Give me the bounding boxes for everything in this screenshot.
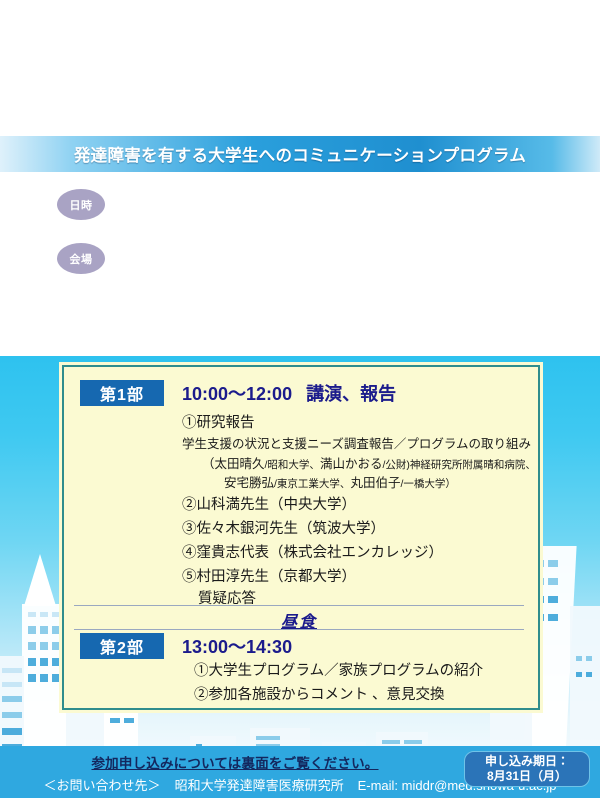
building-window [40, 612, 48, 617]
affil-org-3: /東京工業大学、 [274, 478, 350, 490]
deadline-date: 8月31日（月） [487, 769, 567, 784]
building-spire-left [24, 554, 56, 606]
top-white-panel [0, 0, 600, 356]
part1-item-4: ④窪貴志代表（株式会社エンカレッジ） [182, 541, 443, 562]
building-window [2, 712, 22, 718]
part2-time: 13:00〜14:30 [182, 633, 292, 659]
building-window [40, 658, 48, 666]
building-window [576, 656, 582, 661]
part1-tag: 第1部 [80, 380, 164, 406]
building-window [40, 674, 48, 682]
date-badge-label: 日時 [70, 197, 93, 213]
affil-name-2: 満山かおる [320, 457, 383, 471]
venue-badge-label: 会場 [70, 251, 93, 267]
footer-bar: 参加申し込みについては裏面をご覧ください。 ＜お問い合わせ先＞昭和大学発達障害医… [0, 746, 600, 798]
part2-tag-label: 第2部 [100, 634, 144, 658]
part1-item-5: ⑤村田淳先生（京都大学） [182, 565, 356, 586]
deadline-label: 申し込み期日： [485, 754, 569, 769]
part2-item-2: ②参加各施設からコメント 、意見交換 [194, 683, 445, 704]
date-badge: 日時 [57, 189, 105, 220]
part1-tag-label: 第1部 [100, 381, 144, 405]
poster-root: AMED 障害者対策総合研究開発事業 発達障害を有する大学生（中退者、引きこもり… [0, 0, 600, 798]
part1-label: 講演、報告 [306, 384, 396, 404]
program-box: 第1部 10:00〜12:00講演、報告 ①研究報告 学生支援の状況と支援ニーズ… [62, 365, 540, 710]
building-window [2, 682, 22, 687]
building-window [2, 696, 22, 702]
building-window [586, 656, 592, 661]
building-window [124, 718, 134, 723]
building-window [28, 674, 36, 682]
building-window [548, 578, 558, 585]
building-window [576, 672, 582, 677]
building-window [28, 642, 36, 650]
contact-label: ＜お問い合わせ先＞ [44, 778, 161, 793]
building-window [256, 736, 280, 740]
affil-org-4: /一橋大学） [400, 478, 455, 490]
building-window [52, 612, 60, 617]
part2-time-range: 13:00〜14:30 [182, 637, 292, 657]
building-window [52, 658, 60, 666]
building-window [2, 668, 22, 673]
building-window [28, 658, 36, 666]
building-window [404, 740, 422, 744]
lunch-divider-bottom [74, 629, 524, 630]
lunch-divider-top [74, 605, 524, 606]
affil-org-1: /昭和大学、 [265, 459, 320, 471]
program-banner: 発達障害を有する大学生へのコミュニケーションプログラム [0, 136, 600, 172]
building-window [40, 626, 48, 634]
building-window [548, 560, 558, 567]
deadline-badge: 申し込み期日： 8月31日（月） [464, 751, 590, 787]
building-window [52, 674, 60, 682]
part1-time: 10:00〜12:00講演、報告 [182, 380, 396, 406]
building-window [2, 728, 22, 735]
part1-item-2: ②山科満先生（中央大学） [182, 493, 356, 514]
building-window [52, 642, 60, 650]
affil-name-1: （太田晴久 [202, 457, 265, 471]
building-window [28, 626, 36, 634]
part1-time-range: 10:00〜12:00 [182, 384, 292, 404]
part2-tag: 第2部 [80, 633, 164, 659]
venue-badge: 会場 [57, 243, 105, 274]
building-window [28, 612, 36, 617]
part1-item-1: ①研究報告 [182, 411, 255, 432]
building-window [548, 614, 558, 621]
part1-item-1-detail: 学生支援の状況と支援ニーズ調査報告／プログラムの取り組み [182, 433, 531, 452]
affil-name-4: 丸田伯子 [350, 476, 400, 490]
part1-affiliation-line2: 安宅勝弘/東京工業大学、丸田伯子/一橋大学） [224, 472, 456, 491]
part1-affiliation-line1: （太田晴久/昭和大学、満山かおる/公財)神経研究所附属晴和病院、 [202, 453, 536, 472]
part1-item-3: ③佐々木銀河先生（筑波大学） [182, 517, 385, 538]
program-banner-label: 発達障害を有する大学生へのコミュニケーションプログラム [74, 142, 526, 166]
part2-item-1: ①大学生プログラム／家族プログラムの紹介 [194, 659, 483, 680]
building-window [40, 642, 48, 650]
building-window [382, 740, 400, 744]
contact-organization: 昭和大学発達障害医療研究所 [175, 778, 344, 793]
building-window [52, 626, 60, 634]
affil-org-2: /公財)神経研究所附属晴和病院、 [382, 459, 535, 471]
building-window [586, 672, 592, 677]
application-notice[interactable]: 参加申し込みについては裏面をご覧ください。 [0, 752, 470, 772]
building-window [110, 718, 120, 723]
affil-name-3: 安宅勝弘 [224, 476, 274, 490]
building-window [548, 596, 558, 603]
